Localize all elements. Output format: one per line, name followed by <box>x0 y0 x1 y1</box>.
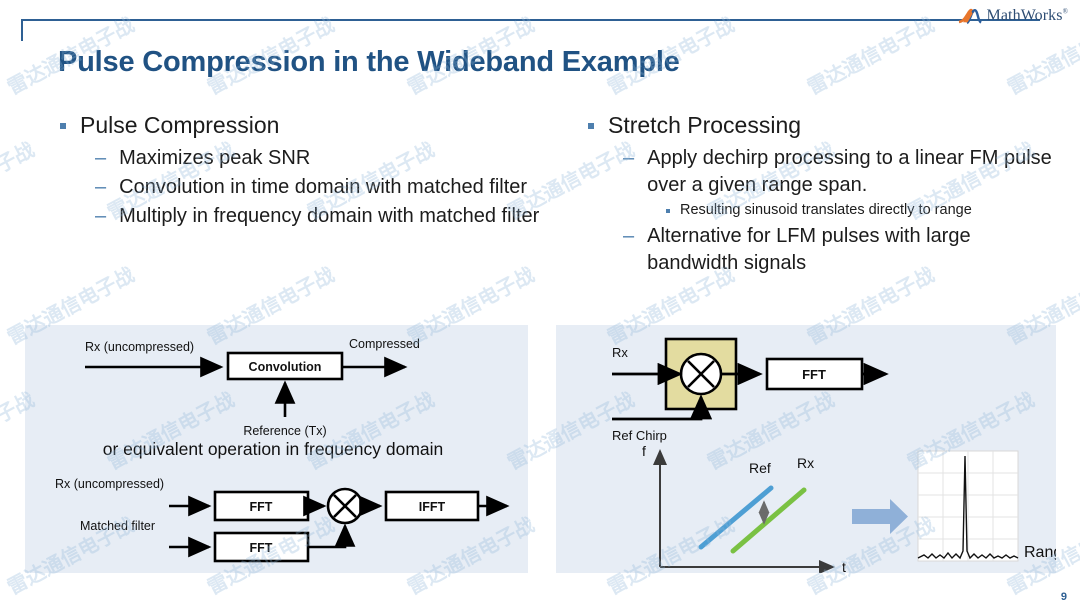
mathworks-membrane-icon <box>958 5 982 27</box>
block-convolution-label: Convolution <box>249 360 322 374</box>
bullet-item-label: Maximizes peak SNR <box>119 145 310 172</box>
figure-panel-pulse-compression: Rx (uncompressed) Convolution Compressed… <box>25 325 528 573</box>
pulse-compression-block-diagram: Rx (uncompressed) Convolution Compressed… <box>25 325 528 573</box>
label-compressed: Compressed <box>349 337 420 351</box>
header-rule-stub <box>21 19 23 41</box>
figure-caption: or equivalent operation in frequency dom… <box>103 439 444 459</box>
bullet-column-left: Pulse Compression – Maximizes peak SNR –… <box>60 110 540 232</box>
page-title: Pulse Compression in the Wideband Exampl… <box>58 46 680 79</box>
watermark-text: 雷达通信电子战 <box>801 9 938 100</box>
mathworks-logo: MathWorks® <box>958 5 1068 27</box>
bullet-item-label: Alternative for LFM pulses with large ba… <box>647 223 1058 277</box>
bullet-subitem: Resulting sinusoid translates directly t… <box>666 201 1058 220</box>
dash-bullet-icon: – <box>623 145 634 172</box>
bullet-item-label: Multiply in frequency domain with matche… <box>119 203 539 230</box>
bullet-heading-label: Stretch Processing <box>608 110 801 141</box>
watermark-text: 雷达通信电子战 <box>0 134 39 225</box>
bullet-heading-pulse-compression: Pulse Compression <box>60 110 540 141</box>
bullet-item: – Multiply in frequency domain with matc… <box>95 203 540 230</box>
block-fft-dechirp-label: FFT <box>802 367 826 382</box>
bullet-item: – Apply dechirp processing to a linear F… <box>623 145 1058 199</box>
dash-bullet-icon: – <box>95 145 106 172</box>
chirp-legend-ref: Ref <box>749 460 771 476</box>
bullet-subitem-label: Resulting sinusoid translates directly t… <box>680 201 972 220</box>
page-number: 9 <box>1061 591 1067 603</box>
bullet-heading-stretch-processing: Stretch Processing <box>588 110 1058 141</box>
chirp-plot-x-axis-label: t <box>842 559 846 573</box>
bullet-heading-label: Pulse Compression <box>80 110 279 141</box>
block-fft-bottom-label: FFT <box>250 541 273 555</box>
block-fft-top-label: FFT <box>250 500 273 514</box>
bullet-item: – Alternative for LFM pulses with large … <box>623 223 1058 277</box>
range-plot-label: Range <box>1024 544 1056 561</box>
mathworks-wordmark: MathWorks® <box>987 7 1068 25</box>
chirp-plot-y-axis-label: f <box>642 443 646 459</box>
label-reference-tx: Reference (Tx) <box>243 424 326 438</box>
square-bullet-icon <box>60 123 66 129</box>
label-rx-uncompressed-freq: Rx (uncompressed) <box>55 477 164 491</box>
chirp-line-ref <box>701 488 771 547</box>
label-matched-filter: Matched filter <box>80 519 155 533</box>
bullet-column-right: Stretch Processing – Apply dechirp proce… <box>588 110 1058 279</box>
chirp-line-rx <box>733 490 804 551</box>
dash-bullet-icon: – <box>623 223 634 250</box>
bullet-item-label: Apply dechirp processing to a linear FM … <box>647 145 1058 199</box>
label-rx: Rx <box>612 345 628 360</box>
block-ifft-label: IFFT <box>419 500 446 514</box>
square-bullet-icon <box>666 209 670 213</box>
figure-panel-stretch-processing: Rx FFT Ref Chirp f t Ref Rx <box>556 325 1056 573</box>
bullet-item: – Maximizes peak SNR <box>95 145 540 172</box>
chirp-legend-rx: Rx <box>797 455 814 471</box>
stretch-processing-diagram: Rx FFT Ref Chirp f t Ref Rx <box>556 325 1056 573</box>
dash-bullet-icon: – <box>95 203 106 230</box>
header-rule <box>21 19 1040 21</box>
bullet-item: – Convolution in time domain with matche… <box>95 174 540 201</box>
square-bullet-icon <box>588 123 594 129</box>
label-rx-uncompressed: Rx (uncompressed) <box>85 340 194 354</box>
bullet-item-label: Convolution in time domain with matched … <box>119 174 527 201</box>
dash-bullet-icon: – <box>95 174 106 201</box>
right-arrow-icon <box>852 499 908 534</box>
label-ref-chirp: Ref Chirp <box>612 428 667 443</box>
